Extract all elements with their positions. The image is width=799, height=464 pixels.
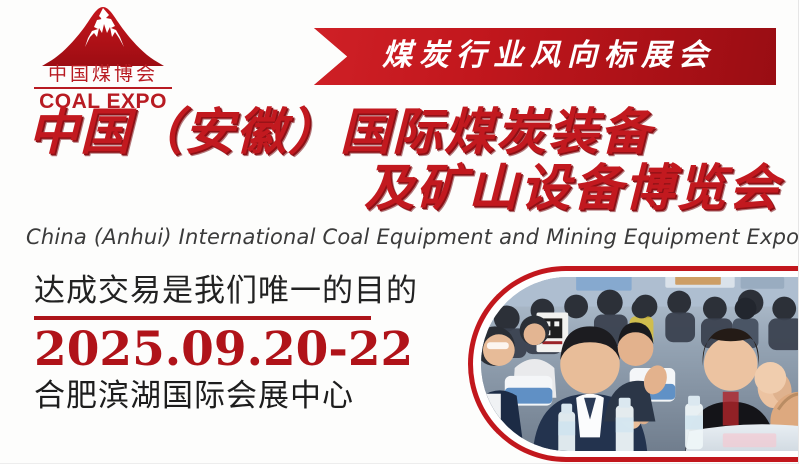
title-line-1: 中国（安徽）国际煤炭装备: [22, 104, 784, 160]
title-line-2: 及矿山设备博览会: [22, 160, 784, 216]
event-date: 2025.09.20-22: [34, 324, 434, 376]
audience-photo: [481, 277, 799, 451]
event-venue: 合肥滨湖国际会展中心: [34, 377, 434, 415]
ribbon-inner: 煤炭行业风向标展会: [314, 28, 776, 85]
logo-chinese-name: 中国煤博会: [28, 64, 178, 85]
red-mountain-icon: [36, 6, 170, 68]
page-title: 中国（安徽）国际煤炭装备 及矿山设备博览会: [22, 104, 784, 216]
logo-divider: [34, 87, 172, 89]
tagline: 达成交易是我们唯一的目的: [34, 272, 434, 310]
ribbon-banner: 煤炭行业风向标展会: [314, 28, 776, 85]
english-subtitle: China (Anhui) International Coal Equipme…: [26, 224, 782, 250]
red-divider-bar: [34, 316, 371, 320]
photo-frame: [468, 266, 799, 462]
expo-poster: 中国煤博会 COAL EXPO 煤炭行业风向标展会 中国（安徽）国际煤炭装备 及…: [0, 0, 799, 464]
coal-expo-logo[interactable]: 中国煤博会 COAL EXPO: [28, 6, 178, 108]
ribbon-label: 煤炭行业风向标展会: [375, 41, 715, 71]
event-info-block: 达成交易是我们唯一的目的 2025.09.20-22 合肥滨湖国际会展中心: [34, 272, 434, 415]
